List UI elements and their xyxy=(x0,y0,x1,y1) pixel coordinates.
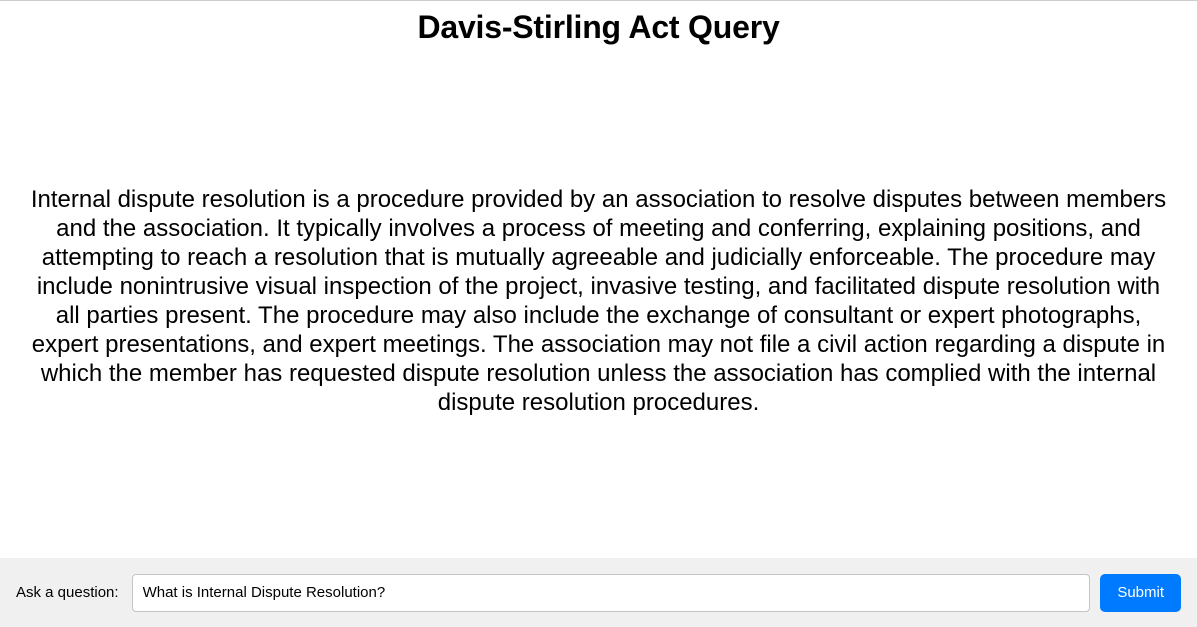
query-bar: Ask a question: Submit xyxy=(0,558,1197,627)
question-input[interactable] xyxy=(132,574,1091,612)
submit-button[interactable]: Submit xyxy=(1100,574,1181,612)
question-label: Ask a question: xyxy=(16,584,119,601)
page-title: Davis-Stirling Act Query xyxy=(0,1,1197,45)
app-root: Davis-Stirling Act Query Internal disput… xyxy=(0,1,1197,627)
answer-text: Internal dispute resolution is a procedu… xyxy=(30,185,1167,417)
answer-region: Internal dispute resolution is a procedu… xyxy=(0,45,1197,558)
